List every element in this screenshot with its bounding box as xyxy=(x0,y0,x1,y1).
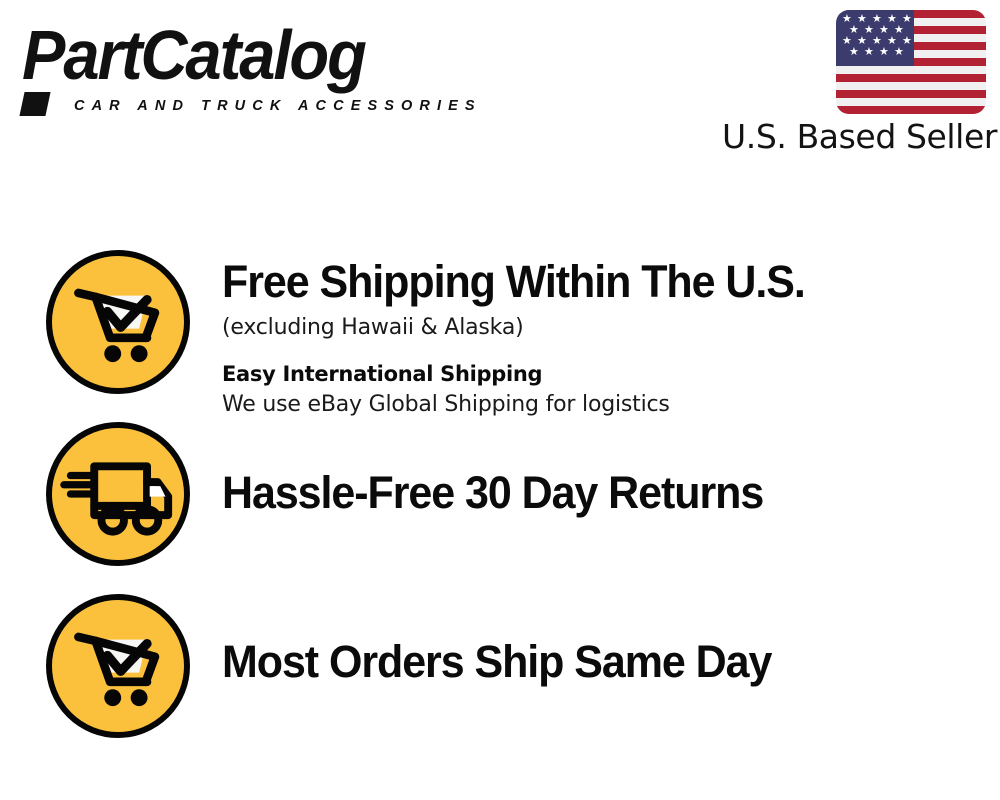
flag-star: ★ xyxy=(842,15,851,24)
feature-heading: Most Orders Ship Same Day xyxy=(222,636,948,688)
flag-star: ★ xyxy=(894,48,903,57)
brand-tagline: CAR AND TRUCK ACCESSORIES xyxy=(74,98,482,114)
shopping-cart-check-icon xyxy=(46,250,190,394)
delivery-truck-icon xyxy=(46,422,190,566)
flag-star: ★ xyxy=(879,48,888,57)
flag-star: ★ xyxy=(872,37,881,46)
brand-wordmark: PartCatalog xyxy=(22,18,365,92)
feature-text-block: Most Orders Ship Same Day xyxy=(222,636,982,688)
flag-star: ★ xyxy=(894,26,903,35)
feature-heading: Free Shipping Within The U.S. xyxy=(222,256,948,308)
feature-subtext-secondary: We use eBay Global Shipping for logistic… xyxy=(222,389,982,420)
feature-subtext: (excluding Hawaii & Alaska) xyxy=(222,312,982,343)
flag-star: ★ xyxy=(849,26,858,35)
flag-star: ★ xyxy=(849,48,858,57)
flag-stripe xyxy=(836,106,986,114)
feature-subheading: Easy International Shipping xyxy=(222,359,982,389)
shopping-cart-check-icon xyxy=(46,594,190,738)
feature-row: Free Shipping Within The U.S. (excluding… xyxy=(0,250,1000,408)
flag-star: ★ xyxy=(864,48,873,57)
flag-star: ★ xyxy=(864,26,873,35)
flag-star: ★ xyxy=(902,37,911,46)
flag-star: ★ xyxy=(887,15,896,24)
feature-text-block: Hassle-Free 30 Day Returns xyxy=(222,467,982,519)
flag-stripe xyxy=(836,74,986,82)
flag-star: ★ xyxy=(842,37,851,46)
logo-accent-bar xyxy=(19,92,50,116)
feature-text-block: Free Shipping Within The U.S. (excluding… xyxy=(222,256,982,420)
feature-row: Most Orders Ship Same Day xyxy=(0,594,1000,742)
us-based-seller-label: U.S. Based Seller xyxy=(722,118,986,156)
feature-heading: Hassle-Free 30 Day Returns xyxy=(222,467,948,519)
flag-star: ★ xyxy=(902,15,911,24)
flag-star: ★ xyxy=(872,15,881,24)
us-flag-icon: ★ ★ ★ ★ ★ ★ ★ ★ ★ ★ ★ ★ ★ ★ ★ ★ ★ ★ xyxy=(836,10,986,114)
flag-star: ★ xyxy=(887,37,896,46)
page-header: PartCatalog CAR AND TRUCK ACCESSORIES ★ … xyxy=(0,0,1000,170)
brand-logo[interactable]: PartCatalog CAR AND TRUCK ACCESSORIES xyxy=(22,18,492,113)
flag-star: ★ xyxy=(879,26,888,35)
flag-stripe xyxy=(836,90,986,98)
flag-star: ★ xyxy=(857,15,866,24)
flag-star: ★ xyxy=(857,37,866,46)
feature-row: Hassle-Free 30 Day Returns xyxy=(0,422,1000,570)
